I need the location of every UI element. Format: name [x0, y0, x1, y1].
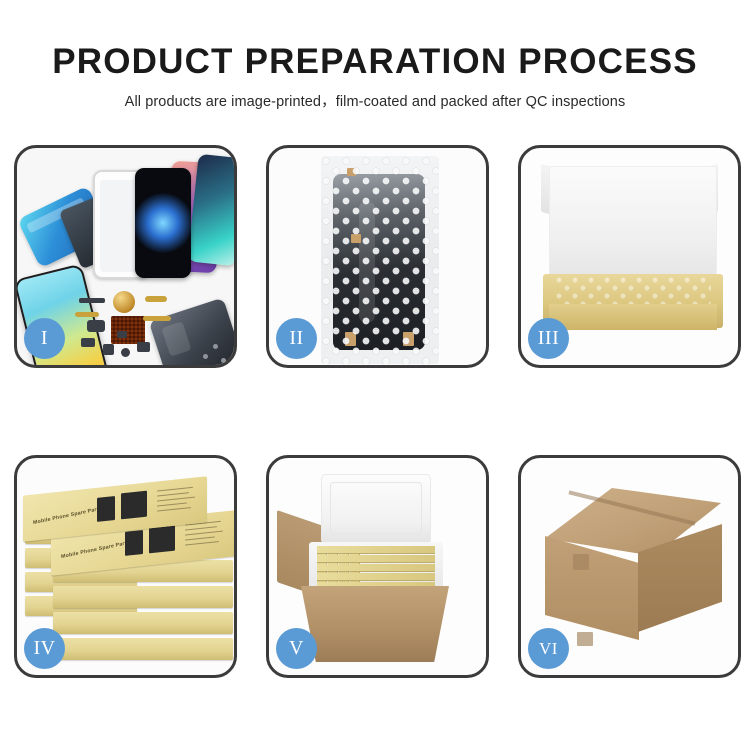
step-badge-1: I: [24, 318, 65, 359]
process-step-card-2: II: [266, 145, 489, 368]
bubble-highlight-layer: [321, 156, 439, 364]
carton-tape-upper: [573, 554, 589, 570]
packed-box-row-2: [317, 555, 435, 563]
step-badge-4: IV: [24, 628, 65, 669]
carton-body: [301, 586, 449, 662]
part-chip-3: [81, 338, 95, 347]
foam-lid: [321, 474, 431, 544]
process-step-card-1: I: [14, 145, 237, 368]
screw-2: [213, 344, 218, 349]
retail-box-r2: [53, 586, 233, 608]
screw-3: [221, 358, 226, 363]
carton-tape-lower: [577, 632, 593, 646]
step-badge-3: III: [528, 318, 569, 359]
sealed-carton-left-face: [545, 536, 639, 640]
step-badge-5: V: [276, 628, 317, 669]
packed-box-row-3: [317, 564, 435, 572]
page-title: PRODUCT PREPARATION PROCESS: [0, 0, 750, 81]
speaker-module-graphic: [113, 291, 135, 313]
step-badge-2: II: [276, 318, 317, 359]
process-step-card-5: V: [266, 455, 489, 678]
screw-1: [203, 354, 208, 359]
kraft-box-front-panel: [549, 304, 717, 330]
flex-cable-1: [145, 296, 167, 302]
retail-box-2-swatch-a: [125, 530, 143, 556]
process-step-grid: I II: [14, 145, 736, 678]
flex-cable-2: [143, 316, 171, 321]
packed-retail-boxes: [317, 546, 435, 588]
retail-box-r4: [53, 638, 233, 660]
bubble-wrap-bag: [321, 156, 439, 364]
packed-box-row-1: [317, 546, 435, 554]
black-phone-graphic: [135, 168, 191, 278]
process-step-card-6: VI: [518, 455, 741, 678]
part-chip-5: [121, 348, 130, 357]
retail-box-2-swatch-b: [149, 525, 175, 554]
part-chip-1: [79, 298, 105, 303]
retail-box-1-swatch-b: [121, 491, 147, 520]
part-chip-6: [137, 342, 150, 352]
process-step-card-4: Mobile Phone Spare Parts Mobile Phone Sp…: [14, 455, 237, 678]
product-preparation-infographic: PRODUCT PREPARATION PROCESS All products…: [0, 0, 750, 750]
flex-cable-3: [75, 312, 99, 317]
packed-box-row-4: [317, 573, 435, 581]
logic-board-graphic: [111, 316, 145, 344]
retail-box-1-swatch-a: [97, 496, 115, 522]
part-chip-7: [117, 331, 127, 338]
white-box-lid: [549, 166, 717, 284]
step-badge-6: VI: [528, 628, 569, 669]
page-subtitle: All products are image-printed，film-coat…: [0, 81, 750, 111]
bubble-wrapped-contents: [555, 276, 711, 304]
retail-box-r3: [53, 612, 233, 634]
part-chip-2: [87, 320, 105, 332]
process-step-card-3: III: [518, 145, 741, 368]
part-chip-4: [103, 344, 114, 355]
page-header: PRODUCT PREPARATION PROCESS All products…: [0, 0, 750, 111]
